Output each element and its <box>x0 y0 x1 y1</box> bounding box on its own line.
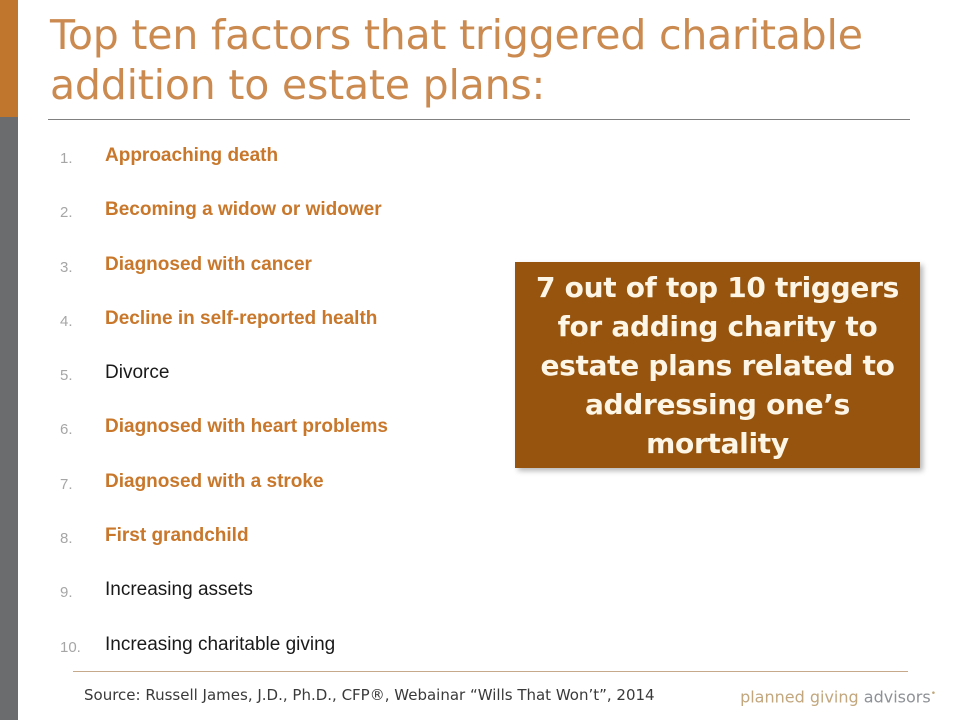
list-item-label: Decline in self-reported health <box>105 305 377 333</box>
callout-box: 7 out of top 10 triggers for adding char… <box>515 262 920 468</box>
list-item-label: First grandchild <box>105 522 249 550</box>
list-item-number: 1. <box>60 142 105 172</box>
list-item: 6.Diagnosed with heart problems <box>60 413 530 467</box>
list-item: 1.Approaching death <box>60 142 530 196</box>
logo-secondary-text: advisors <box>864 687 931 706</box>
factor-list: 1.Approaching death2.Becoming a widow or… <box>60 142 530 685</box>
callout-text: 7 out of top 10 triggers for adding char… <box>531 268 904 463</box>
list-item-label: Increasing charitable giving <box>105 631 335 659</box>
list-item: 8.First grandchild <box>60 522 530 576</box>
logo-primary-text: planned giving <box>740 687 859 706</box>
list-item-number: 4. <box>60 305 105 335</box>
page-title: Top ten factors that triggered charitabl… <box>50 10 910 110</box>
left-accent-bar-orange <box>0 0 18 117</box>
list-item-number: 10. <box>60 631 105 661</box>
source-citation: Source: Russell James, J.D., Ph.D., CFP®… <box>84 685 655 705</box>
planned-giving-advisors-logo: planned giving advisors• <box>740 683 936 708</box>
list-item: 9.Increasing assets <box>60 576 530 630</box>
left-accent-bar-gray <box>0 117 18 720</box>
list-item-number: 6. <box>60 413 105 443</box>
list-item: 7.Diagnosed with a stroke <box>60 468 530 522</box>
list-item: 4.Decline in self-reported health <box>60 305 530 359</box>
list-item-label: Diagnosed with heart problems <box>105 413 388 441</box>
list-item-label: Approaching death <box>105 142 278 170</box>
list-item: 3.Diagnosed with cancer <box>60 251 530 305</box>
logo-trademark-mark: • <box>931 689 936 699</box>
list-item-number: 2. <box>60 196 105 226</box>
title-divider <box>48 119 910 120</box>
list-item-number: 9. <box>60 576 105 606</box>
list-item-label: Diagnosed with cancer <box>105 251 312 279</box>
list-item: 10.Increasing charitable giving <box>60 631 530 685</box>
footer-divider <box>73 671 908 672</box>
list-item-label: Increasing assets <box>105 576 253 604</box>
list-item-number: 7. <box>60 468 105 498</box>
list-item: 5.Divorce <box>60 359 530 413</box>
list-item-label: Diagnosed with a stroke <box>105 468 324 496</box>
list-item-number: 8. <box>60 522 105 552</box>
slide: Top ten factors that triggered charitabl… <box>0 0 960 720</box>
list-item-number: 3. <box>60 251 105 281</box>
list-item-number: 5. <box>60 359 105 389</box>
list-item-label: Divorce <box>105 359 169 387</box>
list-item-label: Becoming a widow or widower <box>105 196 382 224</box>
list-item: 2.Becoming a widow or widower <box>60 196 530 250</box>
